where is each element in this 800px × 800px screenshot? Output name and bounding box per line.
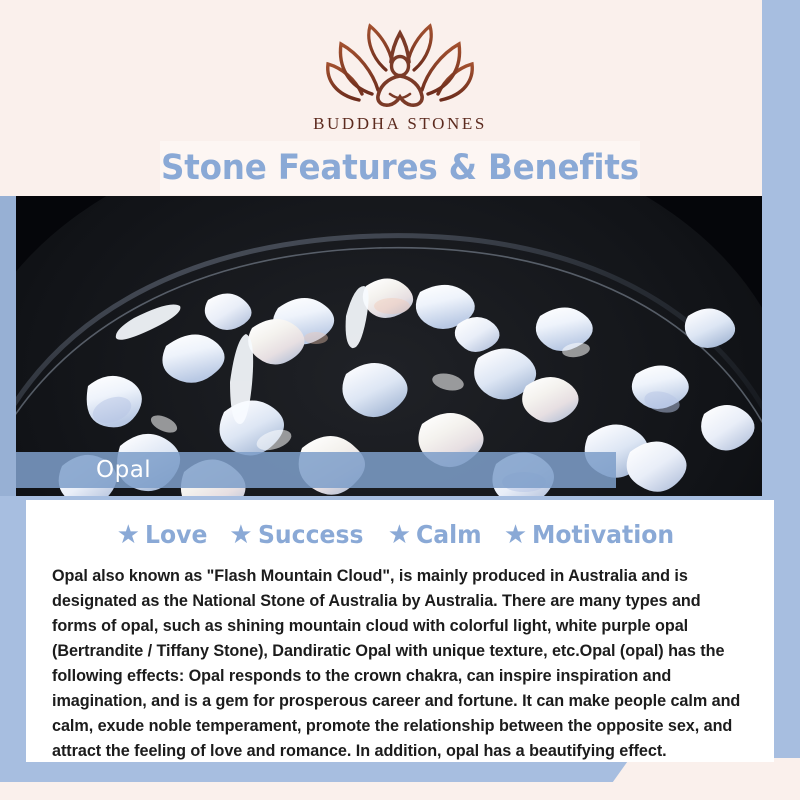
benefit-item-motivation: ★ Motivation [504, 521, 684, 547]
stone-name: Opal [96, 457, 151, 483]
brand-logo: BUDDHA STONES [0, 16, 800, 134]
lotus-meditation-icon [310, 16, 490, 112]
decor-band-right-photo-inner [762, 196, 800, 496]
star-icon: ★ [117, 521, 140, 547]
star-icon: ★ [504, 521, 527, 547]
stone-photo [16, 196, 762, 496]
benefit-label: Success [258, 522, 363, 547]
benefit-label: Motivation [532, 522, 674, 547]
page-header: BUDDHA STONES Stone Features & Benefits [0, 0, 800, 196]
page-title: Stone Features & Benefits [161, 148, 639, 188]
infographic-page: BUDDHA STONES Stone Features & Benefits [0, 0, 800, 800]
benefit-label: Calm [416, 522, 482, 547]
benefits-list: ★ Love ★ Success ★ Calm ★ Motivation [52, 514, 748, 554]
stone-name-bar: Opal [16, 452, 616, 488]
benefit-label: Love [145, 522, 207, 547]
brand-name: BUDDHA STONES [0, 114, 800, 134]
star-icon: ★ [229, 521, 252, 547]
star-icon: ★ [388, 521, 411, 547]
stone-description: Opal also known as "Flash Mountain Cloud… [52, 564, 748, 764]
content-card-corner-notch [600, 758, 800, 800]
benefit-item-success: ★ Success [229, 521, 369, 547]
benefit-item-love: ★ Love [117, 521, 212, 547]
decor-band-left-photo-inner [0, 196, 16, 496]
stone-photo-graphic [16, 196, 762, 496]
content-card: ★ Love ★ Success ★ Calm ★ Motivation Opa… [26, 500, 774, 762]
page-title-plate: Stone Features & Benefits [160, 141, 640, 195]
benefit-item-calm: ★ Calm [388, 521, 486, 547]
